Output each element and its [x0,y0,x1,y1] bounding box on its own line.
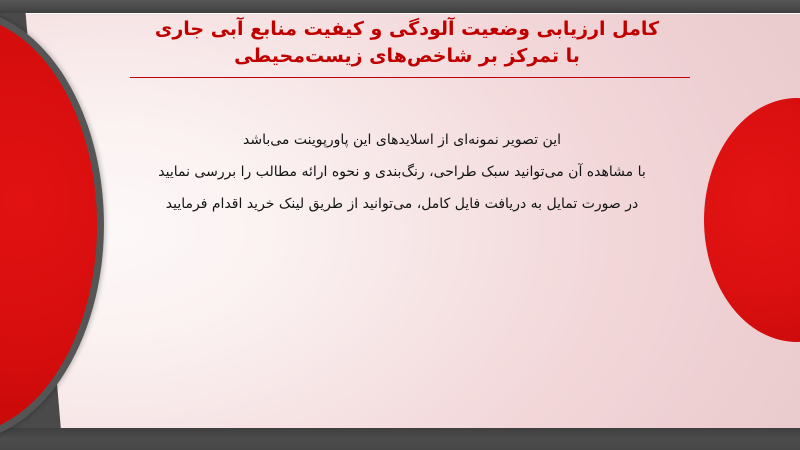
slide-body-line-2: با مشاهده آن می‌توانید سبک طراحی، رنگ‌بن… [116,156,688,188]
slide-frame-top [0,0,800,13]
title-underline-rule [130,77,690,78]
slide-body-line-1: این تصویر نمونه‌ای از اسلایدهای این پاور… [116,124,688,156]
slide-content-panel [0,13,800,428]
slide-body-text: این تصویر نمونه‌ای از اسلایدهای این پاور… [116,124,688,220]
presentation-slide: کامل ارزیابی وضعیت آلودگی و کیفیت منابع … [0,0,800,450]
slide-title-line-2: با تمرکز بر شاخص‌های زیست‌محیطی [122,43,692,70]
slide-title: کامل ارزیابی وضعیت آلودگی و کیفیت منابع … [122,16,692,70]
slide-title-line-1: کامل ارزیابی وضعیت آلودگی و کیفیت منابع … [122,16,692,43]
slide-body-line-3: در صورت تمایل به دریافت فایل کامل، می‌تو… [116,188,688,220]
slide-frame-bottom [0,428,800,450]
background-arc-pattern [0,13,800,428]
